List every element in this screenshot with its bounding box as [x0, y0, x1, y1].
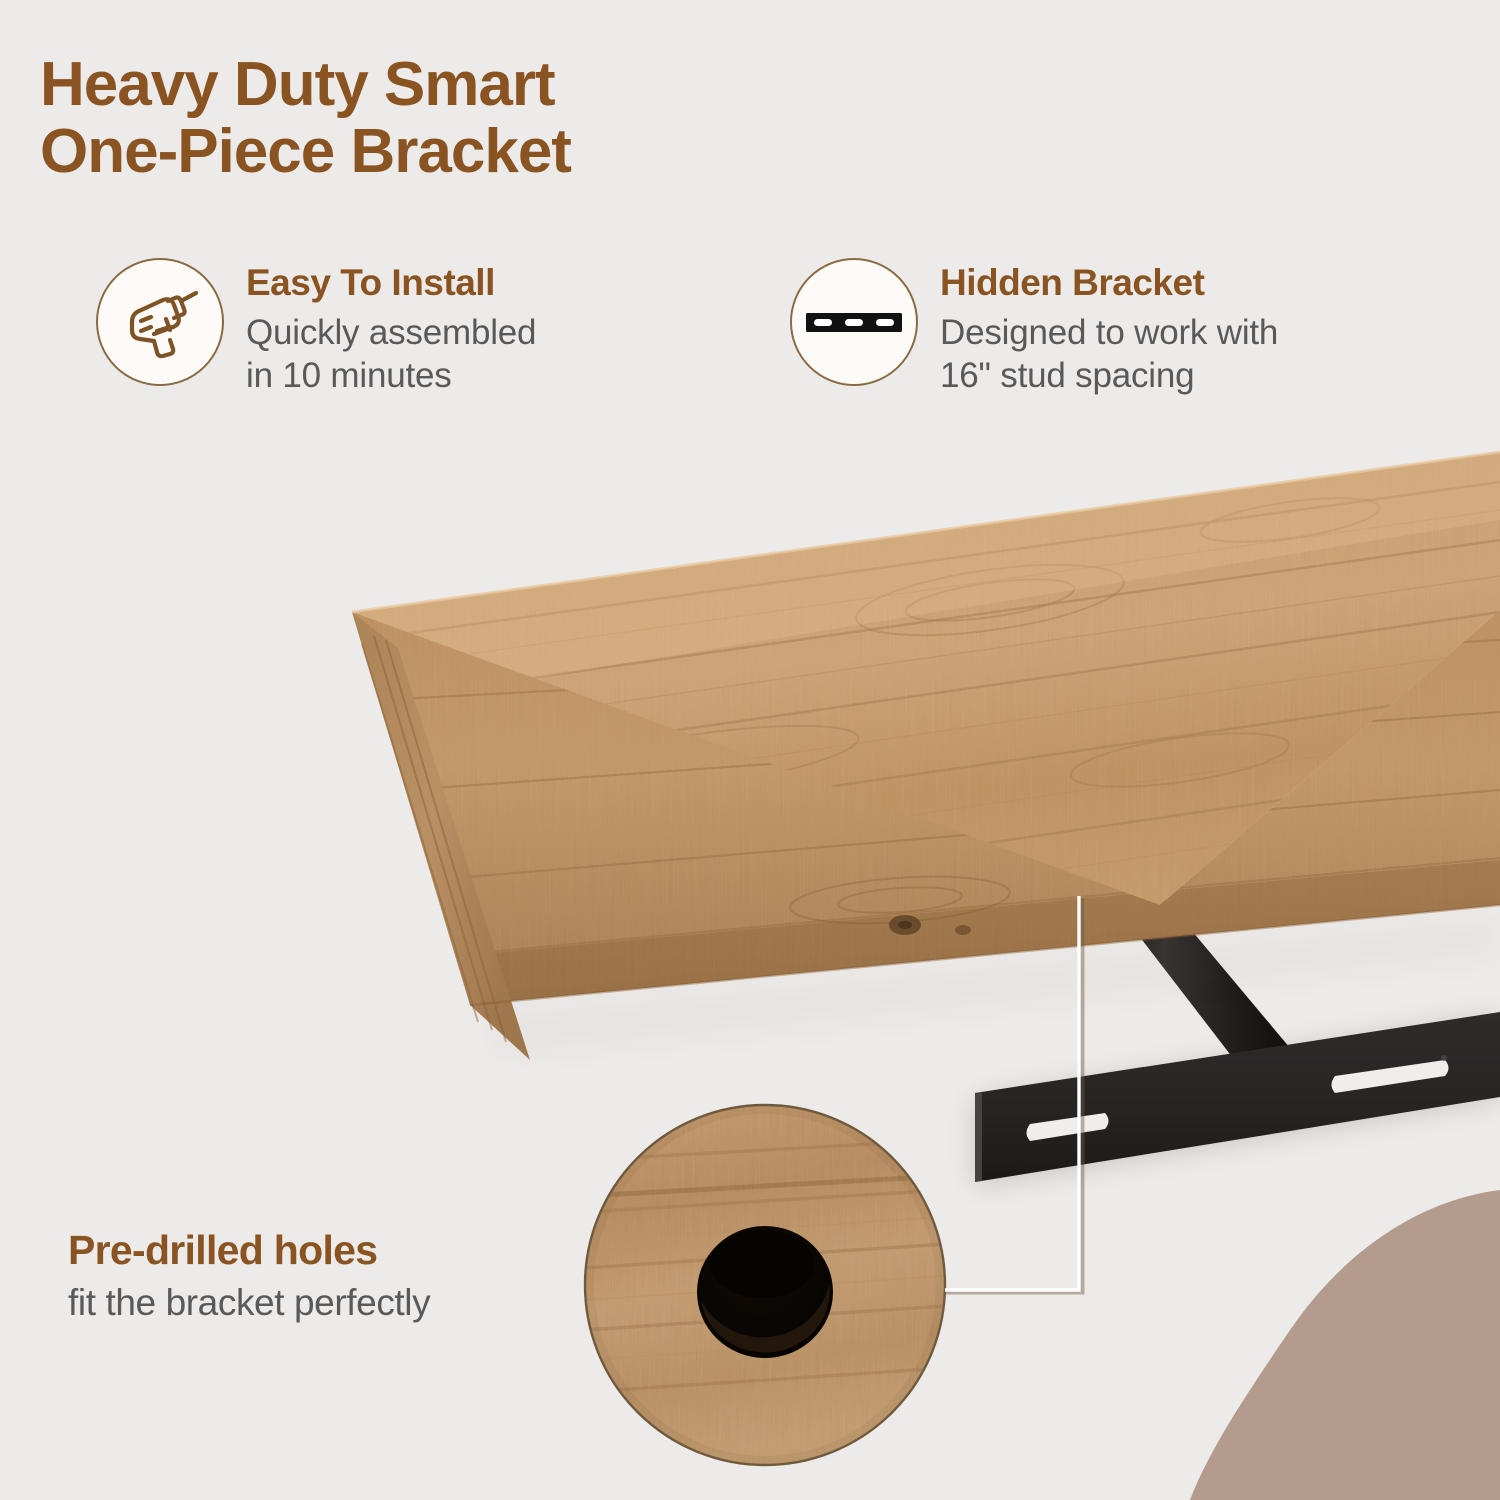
magnifier-detail: [585, 1105, 945, 1465]
feature-title: Hidden Bracket: [940, 262, 1278, 305]
callout-text-block: Pre-drilled holes fit the bracket perfec…: [68, 1228, 588, 1324]
callout-description: fit the bracket perfectly: [68, 1282, 588, 1325]
feature-hidden-bracket: Hidden Bracket Designed to work with 16"…: [790, 258, 1450, 397]
feature-description: Designed to work with 16" stud spacing: [940, 311, 1278, 398]
feature-easy-to-install: Easy To Install Quickly assembled in 10 …: [96, 258, 716, 397]
feature-title: Easy To Install: [246, 262, 536, 305]
page-title: Heavy Duty Smart One-Piece Bracket: [40, 52, 940, 186]
drill-icon: [96, 258, 224, 386]
feature-description: Quickly assembled in 10 minutes: [246, 311, 536, 398]
bracket-bar-icon: [790, 258, 918, 386]
pre-drilled-hole: [697, 1226, 833, 1358]
callout-title: Pre-drilled holes: [68, 1228, 588, 1274]
